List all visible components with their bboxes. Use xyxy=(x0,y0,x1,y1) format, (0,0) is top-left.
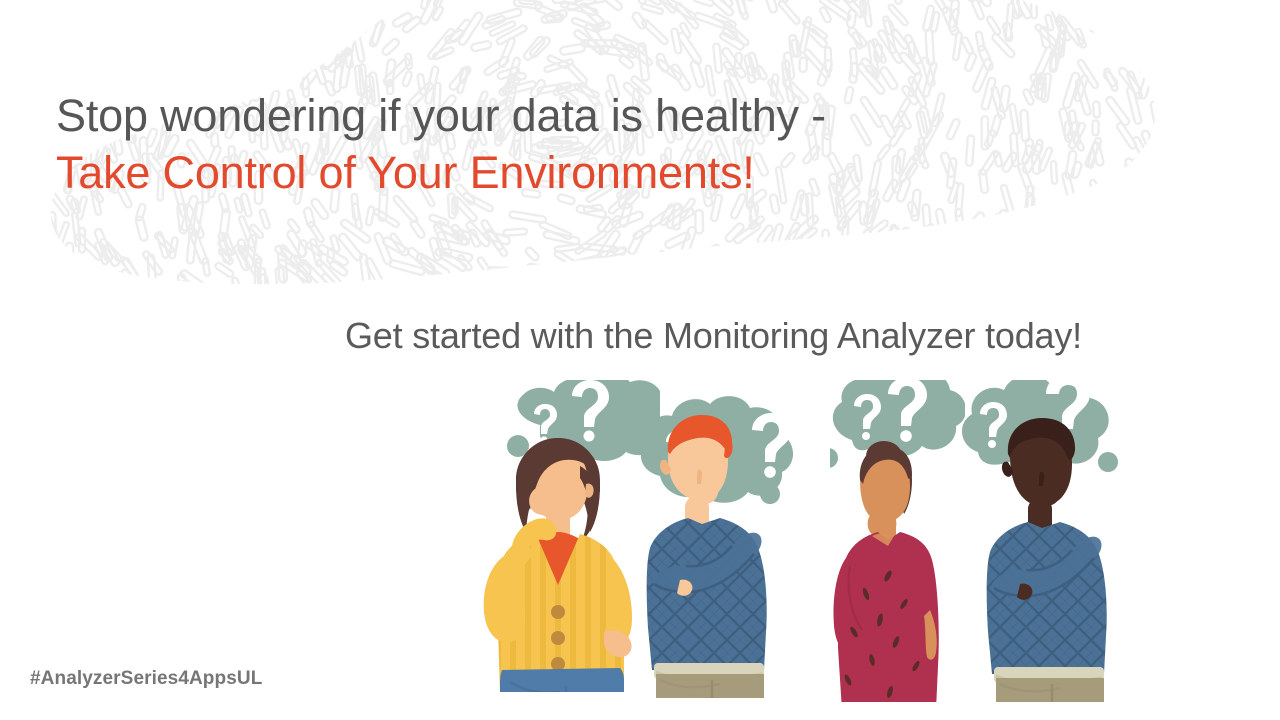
figure-man-orange-hair xyxy=(641,396,793,720)
slide-canvas: Stop wondering if your data is healthy -… xyxy=(0,0,1280,720)
footer-hashtag: #AnalyzerSeries4AppsUL xyxy=(30,668,262,690)
figure-woman-crimson-dress xyxy=(818,380,966,710)
headline-line-2: Take Control of Your Environments! xyxy=(56,144,1056,202)
headline-line-1: Stop wondering if your data is healthy - xyxy=(56,88,1056,144)
subtitle-text: Get started with the Monitoring Analyzer… xyxy=(345,312,1082,360)
figure-woman-yellow-cardigan xyxy=(484,380,674,720)
headline-block: Stop wondering if your data is healthy -… xyxy=(56,88,1056,202)
illustration-four-confused-people xyxy=(480,380,1160,720)
figure-man-dark-skin xyxy=(962,380,1118,720)
